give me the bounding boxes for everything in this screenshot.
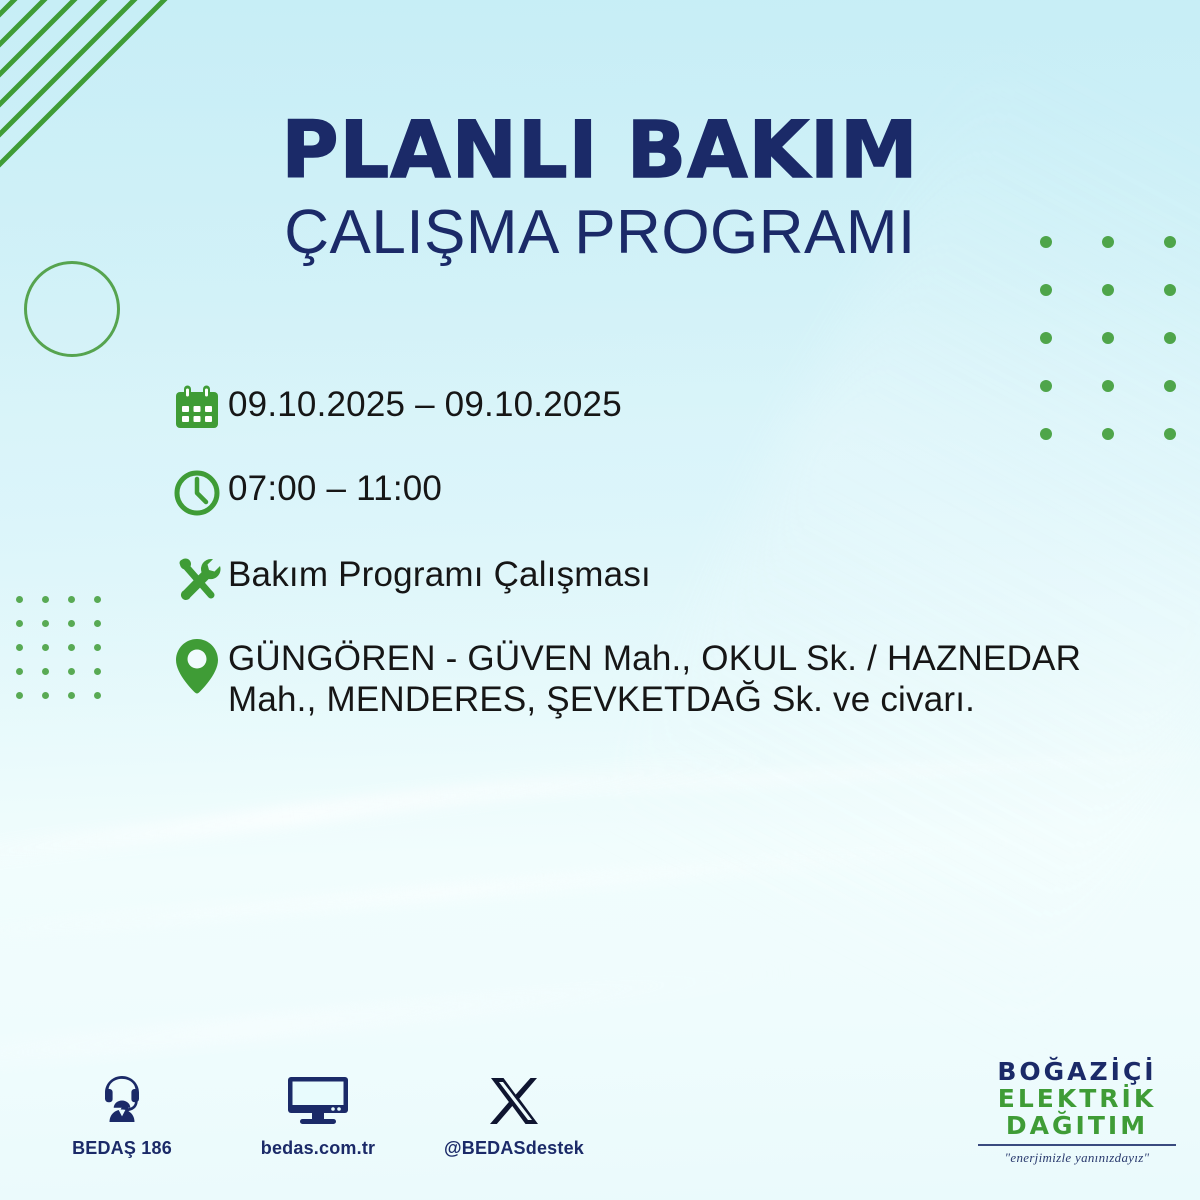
contact-x-account[interactable]: @BEDASdestek (444, 1066, 584, 1159)
footer-contacts: BEDAŞ 186 bedas.com.tr (52, 1066, 584, 1159)
circle-outline-decoration (24, 261, 120, 357)
contact-website[interactable]: bedas.com.tr (248, 1066, 388, 1159)
brand-line-2: ELEKTRİK (972, 1085, 1182, 1112)
dot-grid-left-decoration (16, 596, 120, 716)
detail-row-date: 09.10.2025 – 09.10.2025 (166, 378, 1156, 440)
brand-line-1: BOĞAZİÇİ (972, 1058, 1182, 1085)
x-twitter-icon (444, 1066, 584, 1128)
title-main: PLANLI BAKIM (0, 112, 1200, 190)
poster-canvas: PLANLI BAKIM ÇALIŞMA PROGRAMI (0, 0, 1200, 1200)
page-title: PLANLI BAKIM ÇALIŞMA PROGRAMI (0, 112, 1200, 264)
contact-label: BEDAŞ 186 (52, 1138, 192, 1159)
brand-divider (978, 1144, 1176, 1146)
clock-icon (166, 462, 228, 524)
contact-call-center[interactable]: BEDAŞ 186 (52, 1066, 192, 1159)
background-streak-3 (0, 832, 1039, 944)
work-type-text: Bakım Programı Çalışması (228, 548, 651, 595)
outage-details: 09.10.2025 – 09.10.2025 07:00 – 11:00 (166, 378, 1156, 733)
brand-tagline: "enerjimizle yanınızdayız" (972, 1150, 1182, 1166)
contact-label: bedas.com.tr (248, 1138, 388, 1159)
background-streak-2 (0, 745, 778, 877)
contact-label: @BEDASdestek (444, 1138, 584, 1159)
monitor-icon (248, 1066, 388, 1128)
date-range-text: 09.10.2025 – 09.10.2025 (228, 378, 622, 425)
detail-row-location: GÜNGÖREN - GÜVEN Mah., OKUL Sk. / HAZNED… (166, 632, 1156, 721)
tools-icon (166, 548, 228, 610)
brand-line-3: DAĞITIM (972, 1112, 1182, 1139)
map-pin-icon (166, 632, 228, 698)
title-subtitle: ÇALIŞMA PROGRAMI (0, 202, 1200, 264)
location-text: GÜNGÖREN - GÜVEN Mah., OKUL Sk. / HAZNED… (228, 632, 1156, 721)
headset-agent-icon (52, 1066, 192, 1128)
brand-logo: BOĞAZİÇİ ELEKTRİK DAĞITIM "enerjimizle y… (972, 1058, 1182, 1166)
background-streak-1 (300, 744, 1200, 810)
time-range-text: 07:00 – 11:00 (228, 462, 442, 509)
detail-row-work-type: Bakım Programı Çalışması (166, 548, 1156, 610)
detail-row-time: 07:00 – 11:00 (166, 462, 1156, 524)
calendar-icon (166, 378, 228, 440)
